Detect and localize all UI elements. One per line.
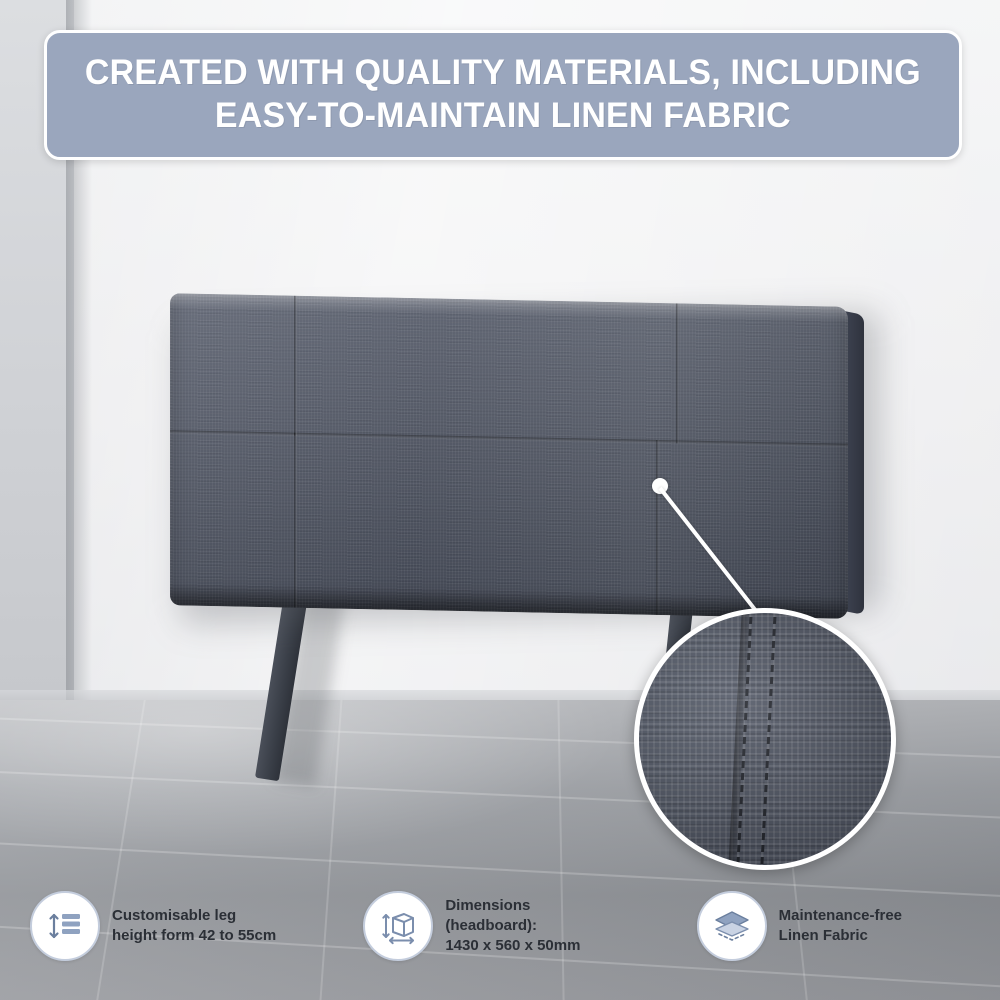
fabric-stitch-zoom — [634, 608, 896, 870]
feature-text-fabric: Maintenance-free Linen Fabric — [779, 906, 902, 947]
feature-item-dimensions: Dimensions (headboard): 1430 x 560 x 50m… — [333, 876, 666, 976]
linen-fabric-texture — [170, 293, 848, 619]
feature-line-1: Dimensions (headboard): — [445, 896, 620, 937]
headline-line-2: EASY-TO-MAINTAIN LINEN FABRIC — [215, 95, 791, 138]
feature-item-fabric: Maintenance-free Linen Fabric — [667, 876, 1000, 976]
headline-banner: CREATED WITH QUALITY MATERIALS, INCLUDIN… — [44, 30, 962, 160]
adjustable-height-icon — [30, 891, 100, 961]
headboard-seam-right — [676, 303, 679, 443]
feature-line-2: 1430 x 560 x 50mm — [445, 936, 620, 956]
feature-line-2: Linen Fabric — [779, 926, 902, 946]
feature-line-2: height form 42 to 55cm — [112, 926, 276, 946]
box-dimensions-icon — [363, 891, 433, 961]
feature-line-1: Maintenance-free — [779, 906, 902, 926]
headboard-seam-lower-right — [656, 440, 659, 615]
headboard-body — [170, 293, 848, 619]
feature-line-1: Customisable leg — [112, 906, 276, 926]
zoom-vignette — [639, 613, 891, 865]
feature-text-leg-height: Customisable leg height form 42 to 55cm — [112, 906, 276, 947]
feature-badges: Customisable leg height form 42 to 55cm — [0, 876, 1000, 976]
product-image: CREATED WITH QUALITY MATERIALS, INCLUDIN… — [0, 0, 1000, 1000]
feature-item-leg-height: Customisable leg height form 42 to 55cm — [0, 876, 333, 976]
headboard-seam-lower-left — [294, 433, 297, 608]
feature-text-dimensions: Dimensions (headboard): 1430 x 560 x 50m… — [445, 896, 620, 957]
fabric-layers-icon — [697, 891, 767, 961]
headboard-seam-left — [294, 296, 297, 436]
headline-line-1: CREATED WITH QUALITY MATERIALS, INCLUDIN… — [85, 52, 921, 95]
headboard — [170, 293, 848, 619]
